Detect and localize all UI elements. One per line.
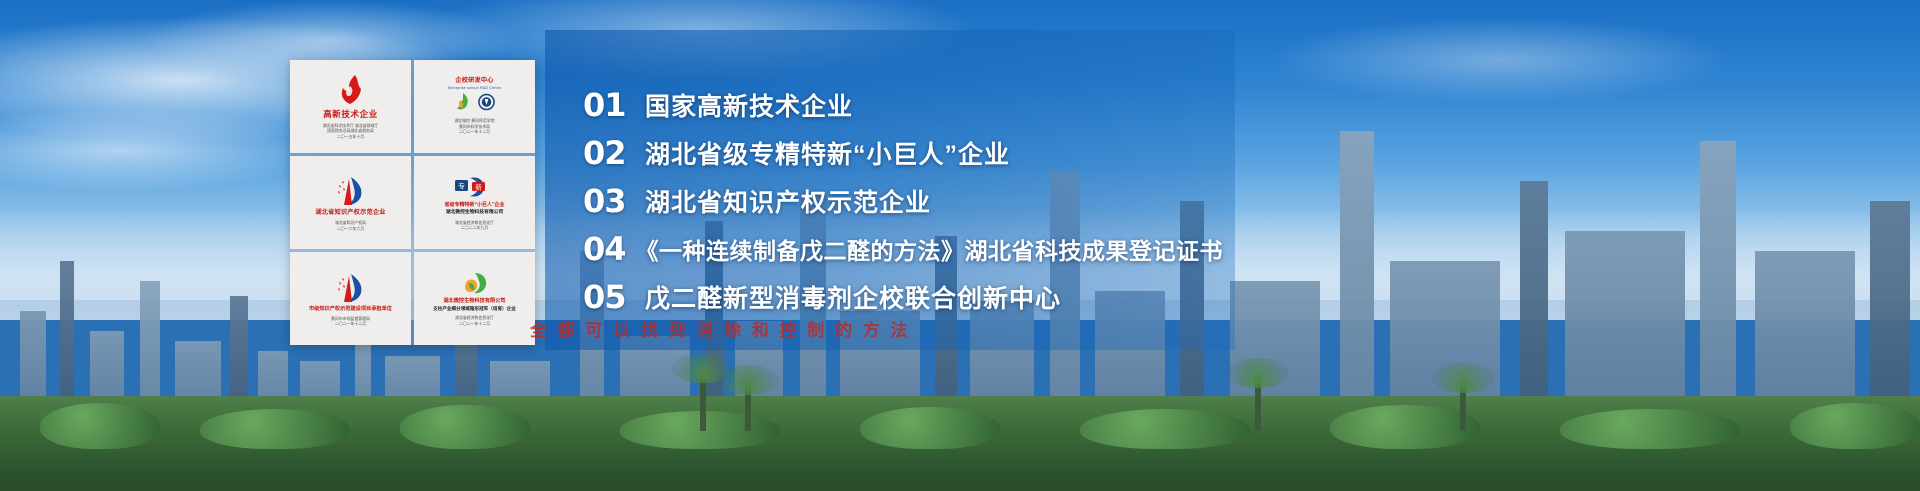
certificate-card[interactable]: 湖北微控生物科技有限公司 支柱产业细分领域隐形冠军（培育）企业 湖北省经济和信息… [414,252,535,345]
certificate-title: 湖北微控生物科技有限公司 [443,299,505,305]
svg-text:新: 新 [475,182,482,191]
certificate-issuer: 湖北省科学技术厅 湖北省财政厅 国家税务总局湖北省税务局 二〇一五年十月 [323,123,379,140]
honor-item[interactable]: 01 国家高新技术企业 [583,82,1223,128]
honor-number: 04 [583,233,636,265]
shrub [860,407,1000,449]
honor-number: 01 [583,89,645,121]
certificate-line-1: 省级专精特新“小巨人”企业 [444,202,504,209]
honor-number: 03 [583,185,645,217]
palm-tree [745,383,751,431]
zhuanjingtexin-icon: 专 新 [455,174,495,200]
rd-center-logos [454,90,495,114]
honor-label: 湖北省级专精特新“小巨人”企业 [645,135,1010,171]
certificate-issuer: 湖北省经济和信息化厅 二〇二一年十二月 [455,315,494,326]
honor-item[interactable]: 02 湖北省级专精特新“小巨人”企业 [583,130,1223,176]
certificate-card[interactable]: 企校研发中心 Enterprise school R&D Center 湖北微控… [414,60,535,153]
certificate-grid: 高新技术企业 湖北省科学技术厅 湖北省财政厅 国家税务总局湖北省税务局 二〇一五… [290,60,535,345]
shrub [40,403,160,449]
shrub [200,409,350,449]
honor-label: 国家高新技术企业 [645,87,853,123]
certificate-issuer: 黄冈市市场监督管理局 二〇二一年十二月 [331,316,370,327]
honor-label: 《一种连续制备戊二醛的方法》湖北省科技成果登记证书 [636,232,1224,266]
honor-item[interactable]: 03 湖北省知识产权示范企业 [583,178,1223,224]
certificate-title: 高新技术企业 [323,110,378,119]
honor-label: 戊二醛新型消毒剂企校联合创新中心 [645,279,1061,315]
certificate-line-2: 湖北微控生物科技有限公司 [446,210,504,217]
ip-sail-icon [334,173,368,209]
certificate-title: 市级知识产权示范建设项目承担单位 [309,307,392,313]
shrub [1330,405,1480,449]
palm-tree [700,371,706,431]
certificate-card[interactable]: 专 新 省级专精特新“小巨人”企业 湖北微控生物科技有限公司 湖北省经济和信息化… [414,156,535,249]
certificate-card[interactable]: 市级知识产权示范建设项目承担单位 黄冈市市场监督管理局 二〇二一年十二月 [290,252,411,345]
palm-tree [1460,381,1466,431]
shrub [400,405,530,449]
palm-tree [1255,376,1261,431]
shrub [1790,403,1920,449]
honors-list: 01 国家高新技术企业 02 湖北省级专精特新“小巨人”企业 03 湖北省知识产… [583,82,1223,322]
gaoxin-flame-icon [336,73,366,109]
honor-number: 02 [583,137,645,169]
certificate-issuer: 湖北省知识产权局 二〇一六年六月 [335,220,366,231]
certificate-line-1: 支柱产业细分领域隐形冠军（培育）企业 [433,306,516,312]
shrub [1560,409,1740,449]
honor-number: 05 [583,281,645,313]
plant-structure [1700,141,1736,431]
honor-item[interactable]: 04 《一种连续制备戊二醛的方法》湖北省科技成果登记证书 [583,226,1223,272]
certificate-issuer: 湖北省经济和信息化厅 二〇二二年九月 [455,220,494,231]
certificate-card[interactable]: 高新技术企业 湖北省科学技术厅 湖北省财政厅 国家税务总局湖北省税务局 二〇一五… [290,60,411,153]
svg-text:专: 专 [458,181,465,190]
certificate-card[interactable]: 湖北省知识产权示范企业 湖北省知识产权局 二〇一六年六月 [290,156,411,249]
plant-structure [1520,181,1548,431]
green-leaf-hand-icon [461,270,489,298]
honor-item[interactable]: 05 戊二醛新型消毒剂企校联合创新中心 [583,274,1223,320]
shrub [1080,409,1250,449]
honor-label: 湖北省知识产权示范企业 [645,183,931,219]
ip-sail-icon [334,270,368,306]
certificate-issuer: 湖北微控 黄冈师范学院 黄冈市科学技术局 二〇二一年十二月 [455,118,495,135]
banner-stage: 高新技术企业 湖北省科学技术厅 湖北省财政厅 国家税务总局湖北省税务局 二〇一五… [0,0,1920,491]
certificate-title: 湖北省知识产权示范企业 [315,210,385,217]
certificate-title: 企校研发中心 [455,78,493,85]
watermark-text: 全 都 可 以 找 到 消 除 和 控 制 的 方 法 [530,316,1390,341]
plant-structure [1340,131,1374,431]
